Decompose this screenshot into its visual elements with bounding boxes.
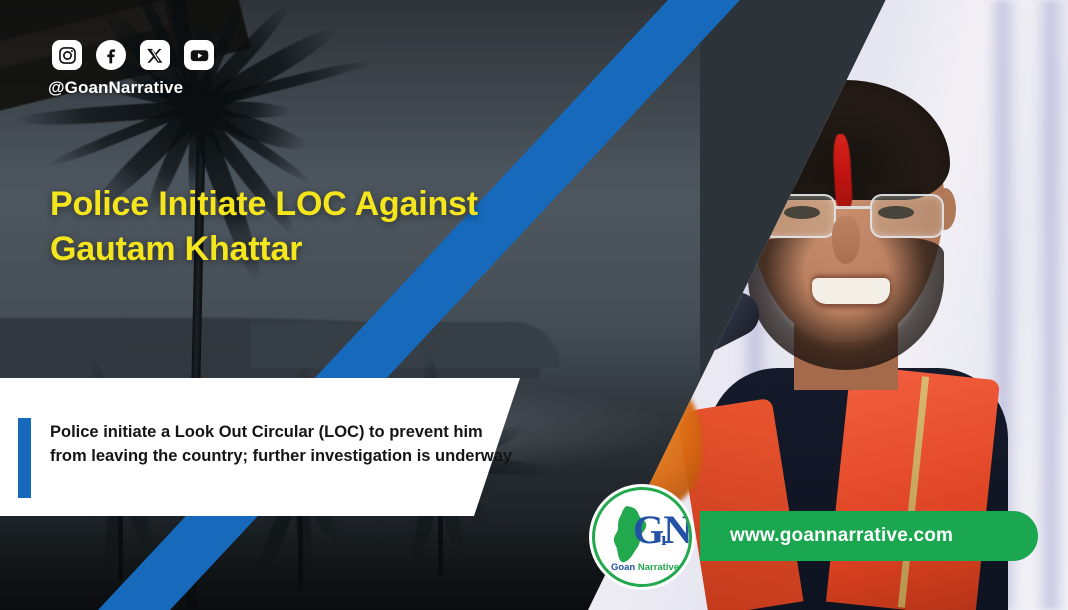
speaker-mouth [812,278,890,304]
facebook-icon[interactable] [96,40,126,70]
logo-word-goan: Goan [611,562,635,573]
youtube-icon[interactable] [184,40,214,70]
curtain-fold-3 [1034,0,1068,610]
logo-badge[interactable]: GıN Goan Narrative [592,487,692,587]
headline: Police Initiate LOC Against Gautam Khatt… [50,182,520,272]
instagram-icon[interactable] [52,40,82,70]
logo-wordmark: Goan Narrative [595,562,692,573]
logo-word-narrative: Narrative [638,562,679,573]
speaker-nose [832,216,860,264]
social-icon-row [52,40,214,70]
news-card: @GoanNarrative Police Initiate LOC Again… [0,0,1068,610]
subtitle-accent-bar [18,418,31,498]
glasses-bridge [836,206,870,209]
lens-left [762,194,836,238]
website-url-bar[interactable]: www.goannarrative.com [700,511,1038,561]
logo-initials: GıN [633,510,689,550]
social-handle: @GoanNarrative [48,78,183,98]
x-twitter-icon[interactable] [140,40,170,70]
speaker-ear-left [738,188,760,230]
subtitle-text: Police initiate a Look Out Circular (LOC… [50,420,520,469]
website-url-text: www.goannarrative.com [730,525,953,547]
lens-right [870,194,944,238]
